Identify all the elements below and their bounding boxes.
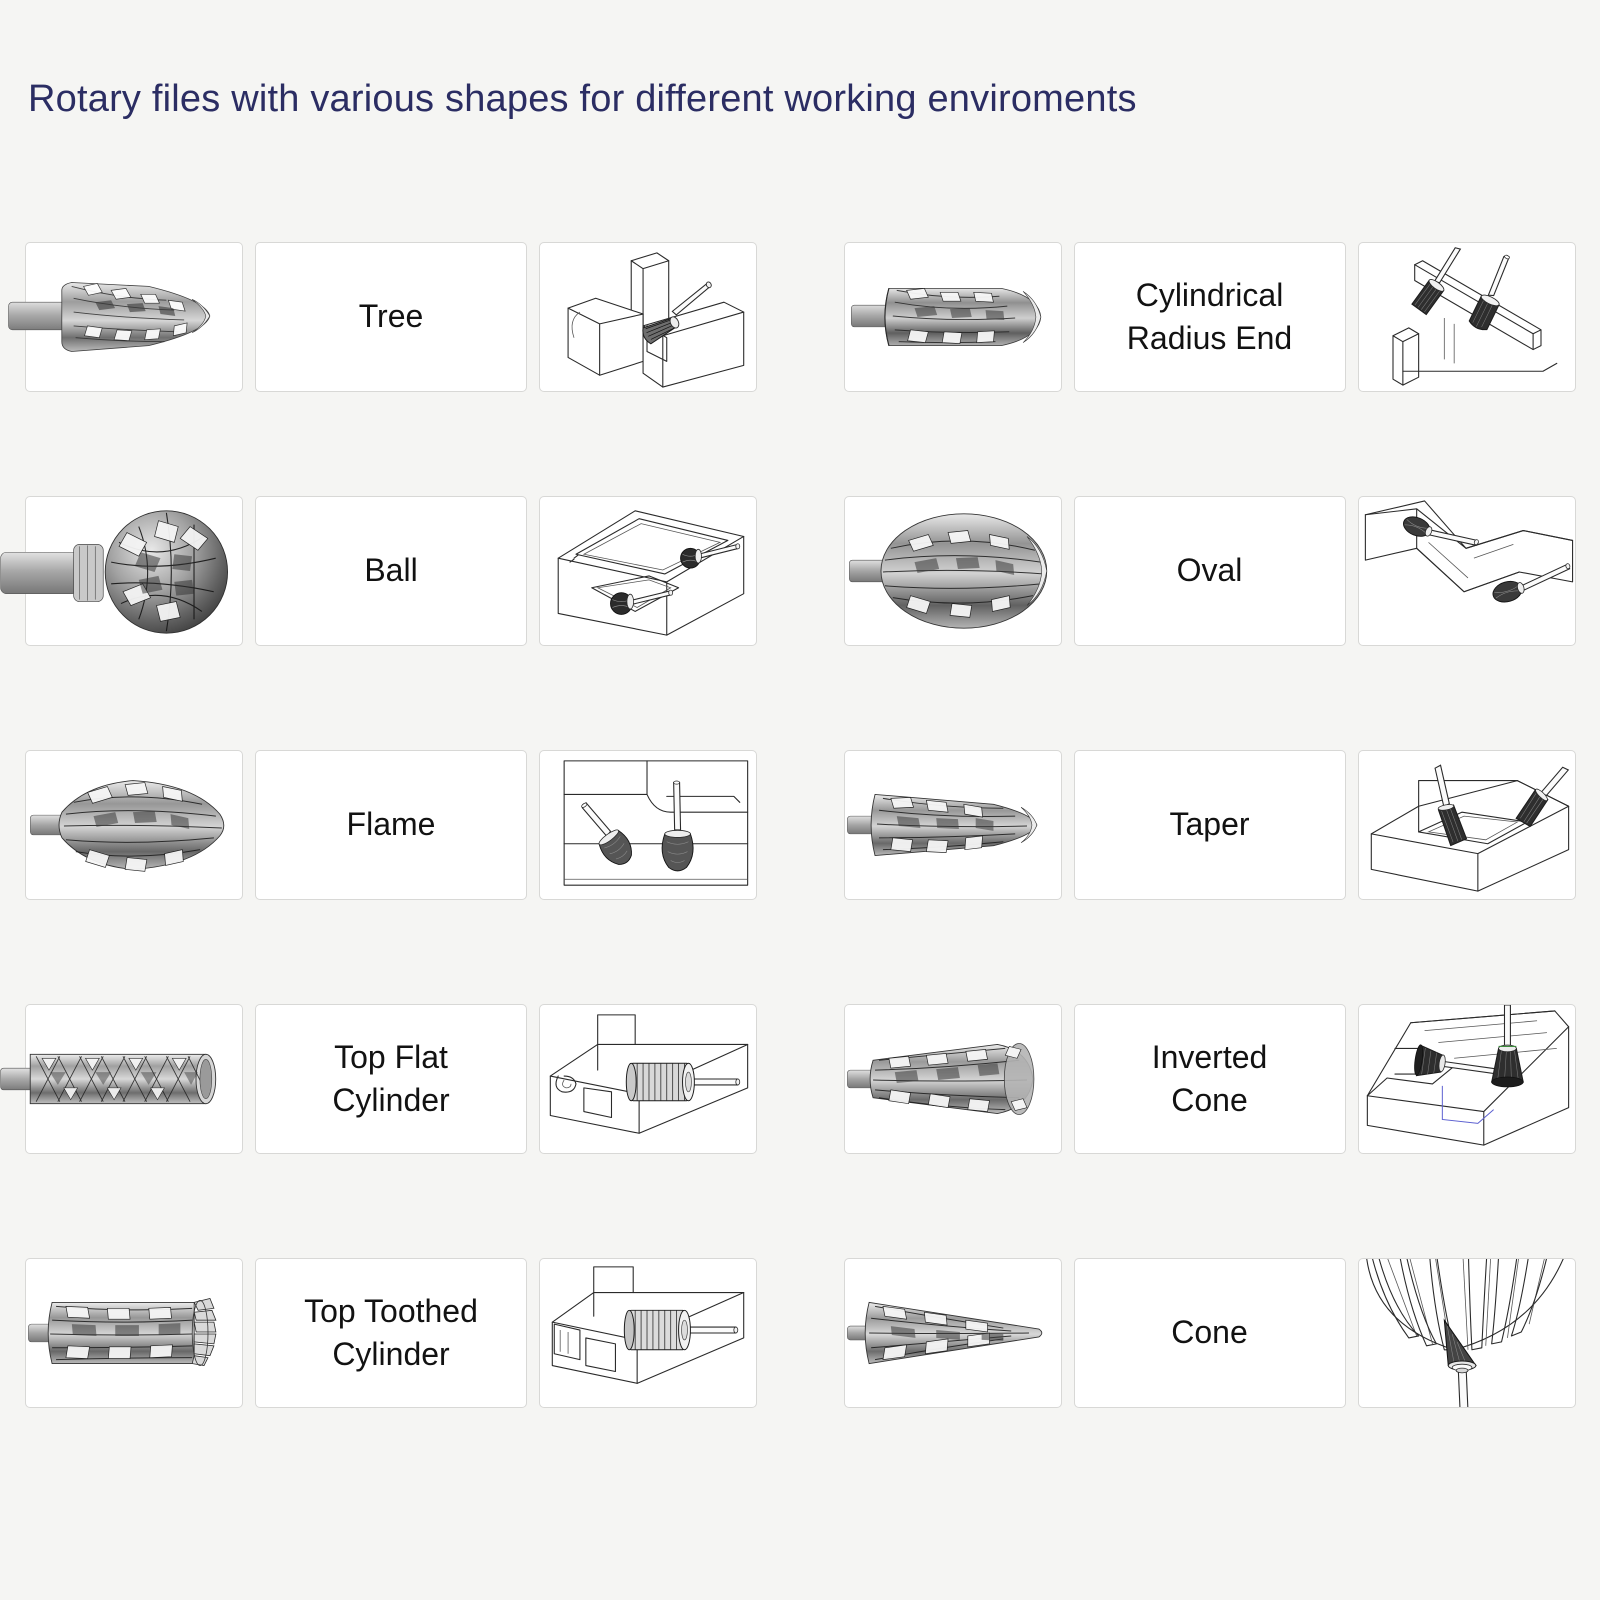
shape-label-card-oval: Oval xyxy=(1074,496,1346,646)
tree-application-artwork xyxy=(540,243,756,391)
shape-row-tree: Tree xyxy=(25,242,760,392)
ball-burr-artwork xyxy=(0,497,242,645)
shape-label-card-top-flat-cylinder: Top Flat Cylinder xyxy=(255,1004,527,1154)
product-photo-cone xyxy=(844,1258,1062,1408)
shape-label-tree: Tree xyxy=(359,295,424,338)
shape-row-cone: Cone xyxy=(844,1258,1579,1408)
cylindrical-radius-end-burr-artwork xyxy=(845,243,1061,391)
shape-grid: Tree xyxy=(25,242,1578,1408)
product-photo-oval xyxy=(844,496,1062,646)
application-diagram-tree xyxy=(539,242,757,392)
ball-application-artwork xyxy=(540,497,756,645)
top-toothed-cylinder-application-artwork xyxy=(540,1259,756,1407)
cone-application-artwork xyxy=(1359,1259,1575,1407)
shape-label-card-cylindrical-radius-end: Cylindrical Radius End xyxy=(1074,242,1346,392)
oval-burr-artwork xyxy=(845,497,1061,645)
product-photo-ball xyxy=(25,496,243,646)
infographic-page: Rotary files with various shapes for dif… xyxy=(0,0,1600,1600)
product-photo-cylindrical-radius-end xyxy=(844,242,1062,392)
shape-label-cylindrical-radius-end: Cylindrical Radius End xyxy=(1127,274,1292,360)
shape-label-card-inverted-cone: Inverted Cone xyxy=(1074,1004,1346,1154)
oval-application-artwork xyxy=(1359,497,1575,645)
shape-label-card-taper: Taper xyxy=(1074,750,1346,900)
top-toothed-cylinder-burr-artwork xyxy=(26,1259,242,1407)
shape-label-flame: Flame xyxy=(347,803,436,846)
shape-label-inverted-cone: Inverted Cone xyxy=(1152,1036,1268,1122)
product-photo-tree xyxy=(25,242,243,392)
product-photo-top-toothed-cylinder xyxy=(25,1258,243,1408)
product-photo-flame xyxy=(25,750,243,900)
application-diagram-cone xyxy=(1358,1258,1576,1408)
shape-row-inverted-cone: Inverted Cone xyxy=(844,1004,1579,1154)
shape-label-top-toothed-cylinder: Top Toothed Cylinder xyxy=(304,1290,478,1376)
flame-burr-artwork xyxy=(26,751,242,899)
shape-label-top-flat-cylinder: Top Flat Cylinder xyxy=(332,1036,449,1122)
inverted-cone-application-artwork xyxy=(1359,1005,1575,1153)
shape-row-cylindrical-radius-end: Cylindrical Radius End xyxy=(844,242,1579,392)
page-title: Rotary files with various shapes for dif… xyxy=(28,78,1137,121)
product-photo-top-flat-cylinder xyxy=(25,1004,243,1154)
shape-label-card-top-toothed-cylinder: Top Toothed Cylinder xyxy=(255,1258,527,1408)
application-diagram-top-flat-cylinder xyxy=(539,1004,757,1154)
shape-row-taper: Taper xyxy=(844,750,1579,900)
taper-application-artwork xyxy=(1359,751,1575,899)
application-diagram-taper xyxy=(1358,750,1576,900)
shape-label-ball: Ball xyxy=(364,549,417,592)
product-photo-inverted-cone xyxy=(844,1004,1062,1154)
top-flat-cylinder-application-artwork xyxy=(540,1005,756,1153)
application-diagram-inverted-cone xyxy=(1358,1004,1576,1154)
flame-application-artwork xyxy=(540,751,756,899)
shape-label-card-ball: Ball xyxy=(255,496,527,646)
application-diagram-flame xyxy=(539,750,757,900)
shape-label-cone: Cone xyxy=(1171,1311,1248,1354)
application-diagram-ball xyxy=(539,496,757,646)
top-flat-cylinder-burr-artwork xyxy=(0,1005,242,1153)
shape-label-card-flame: Flame xyxy=(255,750,527,900)
inverted-cone-burr-artwork xyxy=(845,1005,1061,1153)
shape-label-card-tree: Tree xyxy=(255,242,527,392)
shape-row-top-flat-cylinder: Top Flat Cylinder xyxy=(25,1004,760,1154)
application-diagram-oval xyxy=(1358,496,1576,646)
cylindrical-radius-end-application-artwork xyxy=(1359,243,1575,391)
product-photo-taper xyxy=(844,750,1062,900)
shape-row-ball: Ball xyxy=(25,496,760,646)
cone-burr-artwork xyxy=(845,1259,1061,1407)
shape-row-flame: Flame xyxy=(25,750,760,900)
shape-row-top-toothed-cylinder: Top Toothed Cylinder xyxy=(25,1258,760,1408)
application-diagram-top-toothed-cylinder xyxy=(539,1258,757,1408)
shape-label-oval: Oval xyxy=(1177,549,1243,592)
shape-row-oval: Oval xyxy=(844,496,1579,646)
application-diagram-cylindrical-radius-end xyxy=(1358,242,1576,392)
shape-label-card-cone: Cone xyxy=(1074,1258,1346,1408)
taper-burr-artwork xyxy=(845,751,1061,899)
shape-label-taper: Taper xyxy=(1169,803,1249,846)
tree-burr-artwork xyxy=(0,243,242,391)
